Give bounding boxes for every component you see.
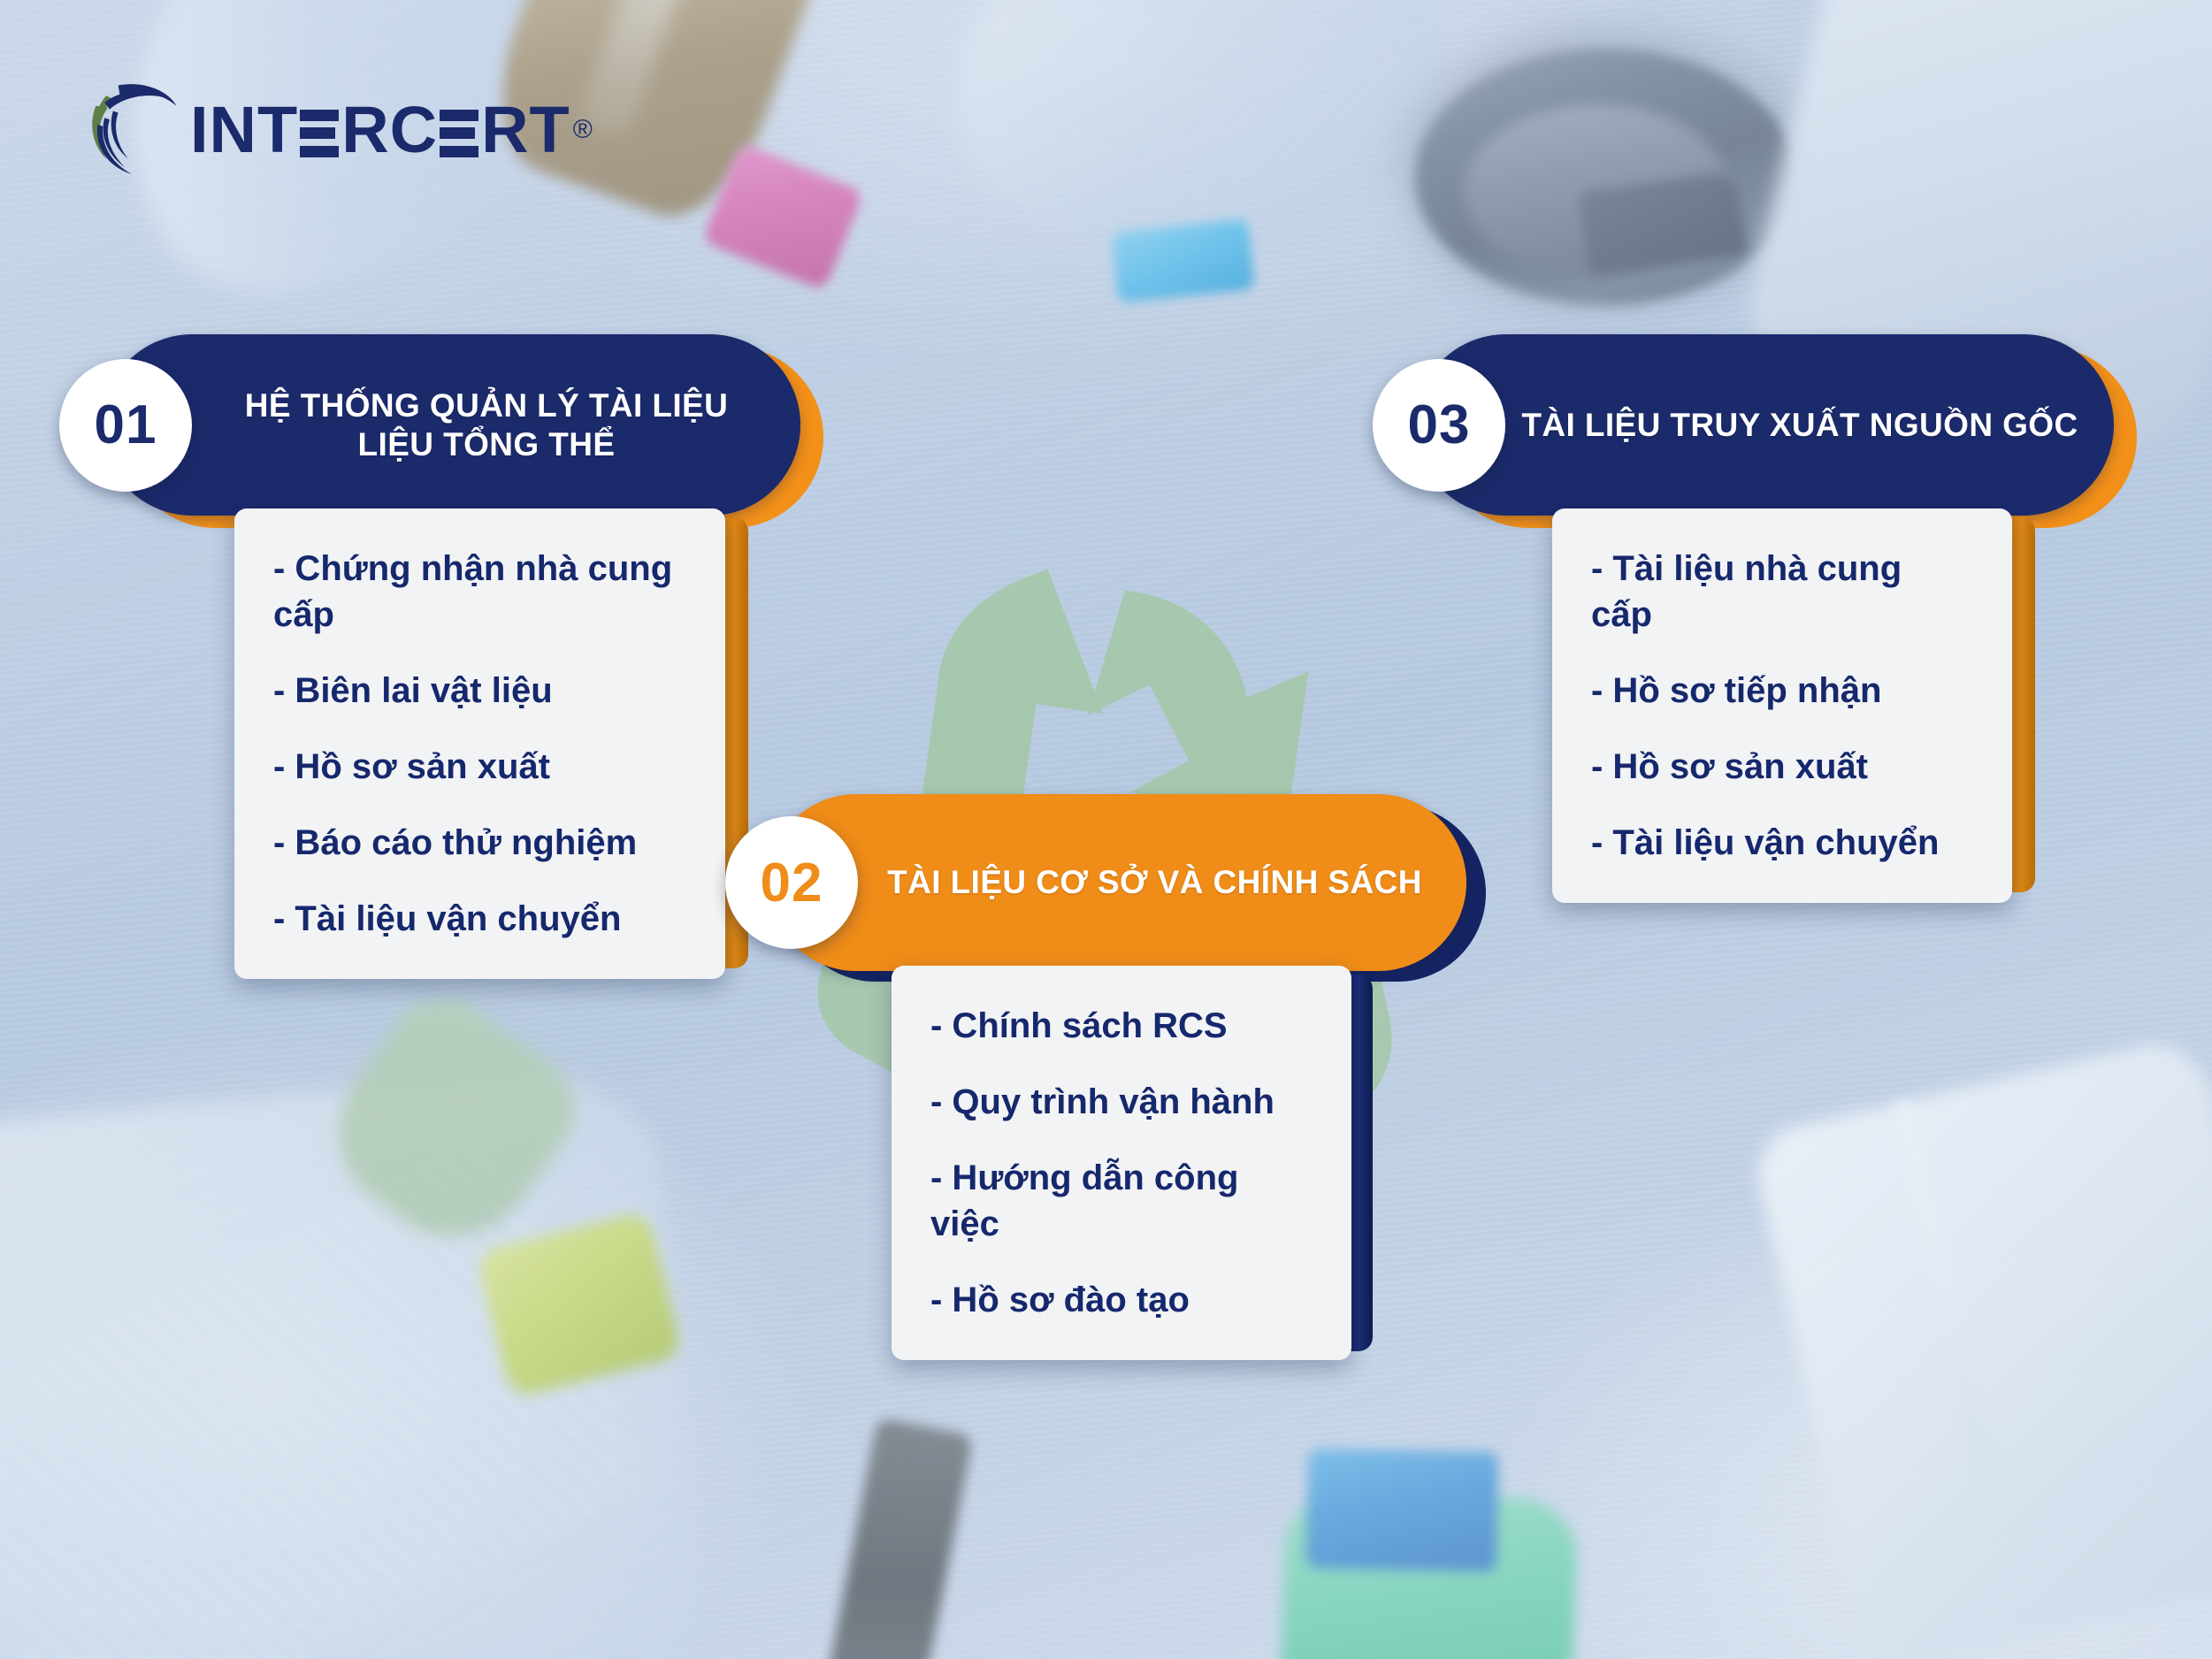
list-item: - Hồ sơ đào tạo [930,1277,1311,1323]
card-02-header: 02 TÀI LIỆU CƠ SỞ VÀ CHÍNH SÁCH [768,794,1466,971]
card-01-number-badge: 01 [59,359,192,492]
card-03-body-card: - Tài liệu nhà cung cấp - Hồ sơ tiếp nhậ… [1552,508,2012,903]
card-02-number-badge: 02 [725,816,858,949]
list-item: - Hồ sơ sản xuất [273,744,685,790]
card-01-header-pill[interactable]: 01 HỆ THỐNG QUẢN LÝ TÀI LIỆU LIỆU TỔNG T… [102,334,800,516]
logo-text-part1: INT [190,97,298,163]
intercert-logo[interactable]: INT RC RT ® [84,75,593,176]
list-item: - Biên lai vật liệu [273,668,685,714]
card-02-header-pill[interactable]: 02 TÀI LIỆU CƠ SỞ VÀ CHÍNH SÁCH [768,794,1466,971]
list-item: - Hồ sơ tiếp nhận [1591,668,1971,714]
info-card-02: 02 TÀI LIỆU CƠ SỞ VÀ CHÍNH SÁCH - Chính … [768,794,1466,1360]
intercert-globe-swoosh-icon [84,73,187,176]
card-03-header: 03 TÀI LIỆU TRUY XUẤT NGUỒN GỐC [1415,334,2114,516]
list-item: - Tài liệu vận chuyển [273,896,685,942]
card-02-body-card: - Chính sách RCS - Quy trình vận hành - … [892,966,1351,1360]
card-02-body: - Chính sách RCS - Quy trình vận hành - … [892,966,1351,1360]
list-item: - Chứng nhận nhà cung cấp [273,546,685,638]
registered-trademark-symbol: ® [573,117,593,143]
logo-text-part2: RC [341,97,438,163]
list-item: - Hồ sơ sản xuất [1591,744,1971,790]
card-02-title: TÀI LIỆU CƠ SỞ VÀ CHÍNH SÁCH [768,863,1466,902]
list-item: - Quy trình vận hành [930,1079,1311,1125]
logo-stylized-e2-icon [440,110,478,157]
card-01-body-card: - Chứng nhận nhà cung cấp - Biên lai vật… [234,508,725,979]
list-item: - Tài liệu nhà cung cấp [1591,546,1971,638]
info-card-03: 03 TÀI LIỆU TRUY XUẤT NGUỒN GỐC - Tài li… [1415,334,2114,903]
logo-text-part3: RT [481,97,570,163]
list-item: - Chính sách RCS [930,1003,1311,1049]
card-01-header: 01 HỆ THỐNG QUẢN LÝ TÀI LIỆU LIỆU TỔNG T… [102,334,800,516]
list-item: - Hướng dẫn công việc [930,1155,1311,1247]
card-03-number-badge: 03 [1373,359,1505,492]
card-03-title: TÀI LIỆU TRUY XUẤT NGUỒN GỐC [1415,406,2114,445]
card-03-body: - Tài liệu nhà cung cấp - Hồ sơ tiếp nhậ… [1552,508,2012,903]
list-item: - Báo cáo thử nghiệm [273,820,685,866]
card-03-header-pill[interactable]: 03 TÀI LIỆU TRUY XUẤT NGUỒN GỐC [1415,334,2114,516]
card-01-title: HỆ THỐNG QUẢN LÝ TÀI LIỆU LIỆU TỔNG THỂ [102,386,800,463]
intercert-wordmark: INT RC RT ® [190,97,593,163]
info-card-01: 01 HỆ THỐNG QUẢN LÝ TÀI LIỆU LIỆU TỔNG T… [102,334,800,979]
card-01-body: - Chứng nhận nhà cung cấp - Biên lai vật… [234,508,725,979]
logo-stylized-e-icon [300,110,339,157]
list-item: - Tài liệu vận chuyển [1591,820,1971,866]
